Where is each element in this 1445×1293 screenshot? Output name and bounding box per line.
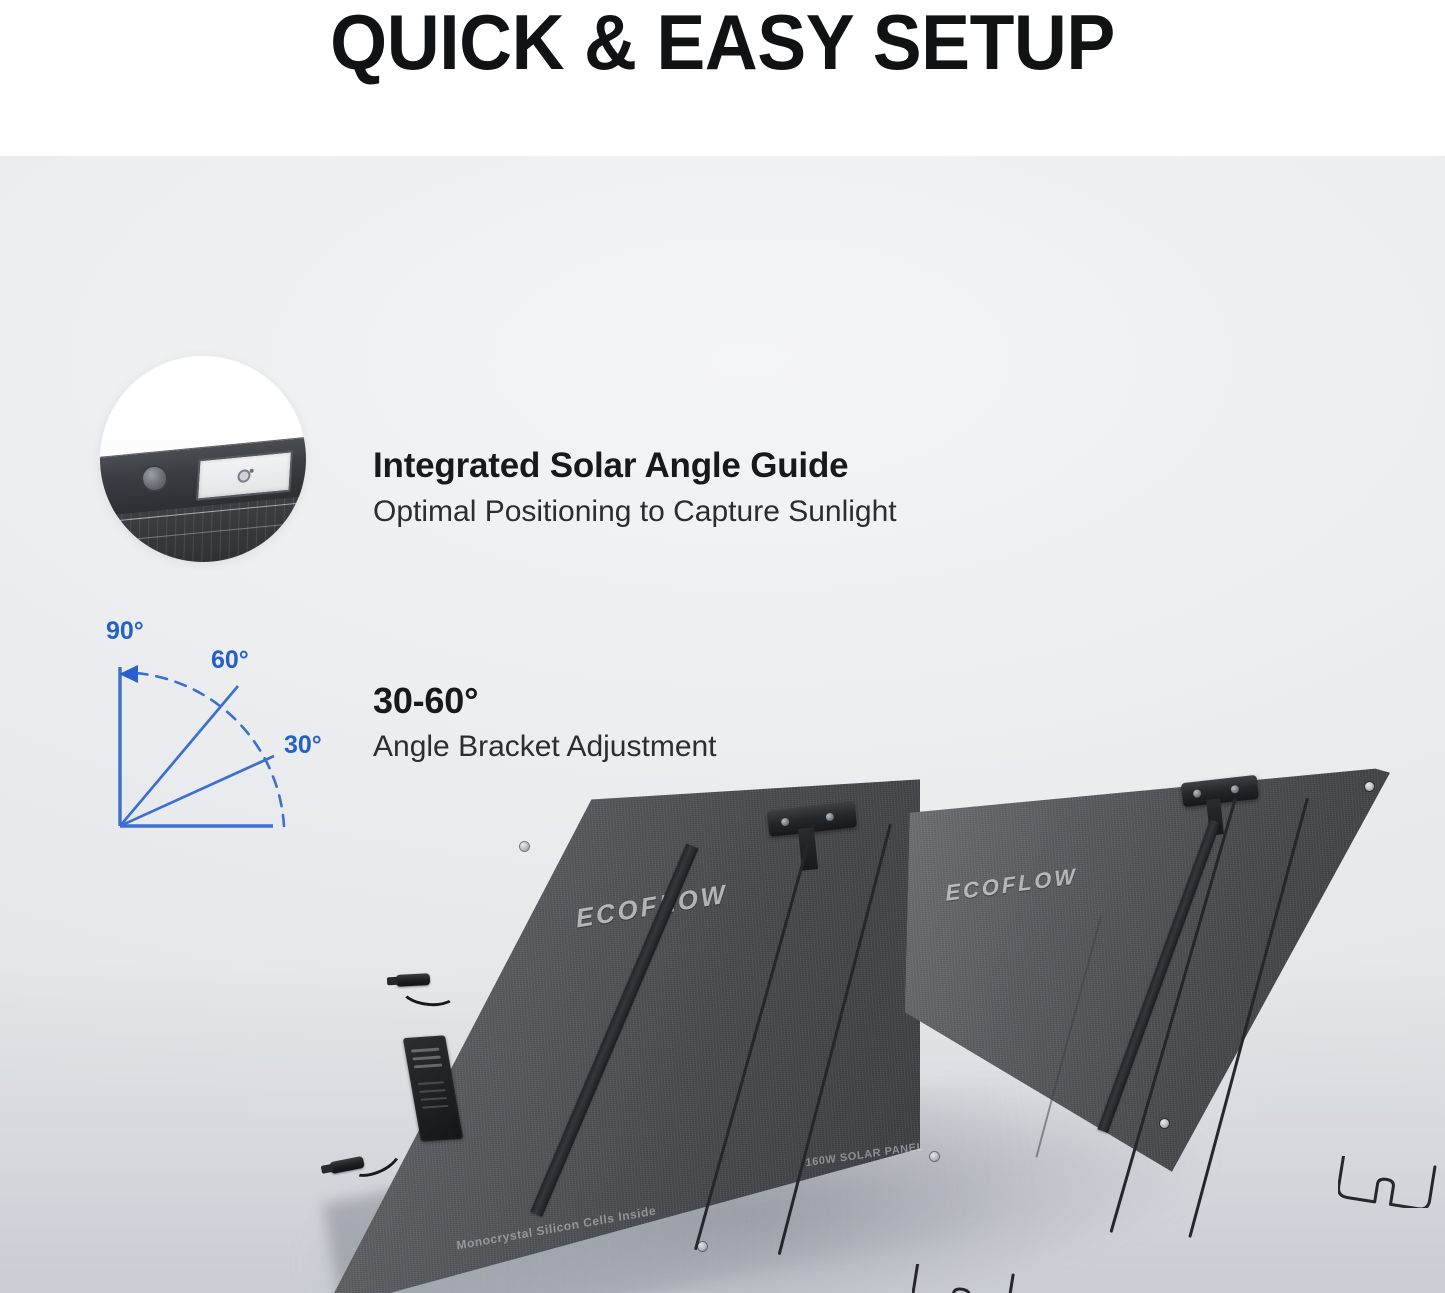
header-band: QUICK & EASY SETUP: [0, 0, 1445, 156]
panel-fastener: [698, 1242, 707, 1251]
page-title: QUICK & EASY SETUP: [43, 0, 1401, 88]
hinge-screw: [825, 813, 834, 822]
hinge-screw: [1193, 789, 1202, 798]
kickstand-foot: [912, 1264, 1022, 1293]
product-feature-graphic: QUICK & EASY SETUP Integrated Solar Angl…: [0, 0, 1445, 1293]
hinge-screw: [781, 818, 790, 827]
content-stage: Integrated Solar Angle Guide Optimal Pos…: [0, 156, 1445, 1293]
corner-grommet: [1365, 782, 1374, 791]
mc4-connector: [396, 973, 431, 987]
portable-folding-solar-panel: ECOFLOW ECOFLOW Monocrystal Silicon Cell…: [0, 156, 1445, 1293]
panel-fastener: [930, 1152, 939, 1161]
hinge-screw: [1230, 785, 1239, 794]
kickstand-foot: [1338, 1156, 1442, 1208]
corner-grommet: [1160, 1119, 1169, 1128]
corner-grommet: [520, 842, 529, 851]
